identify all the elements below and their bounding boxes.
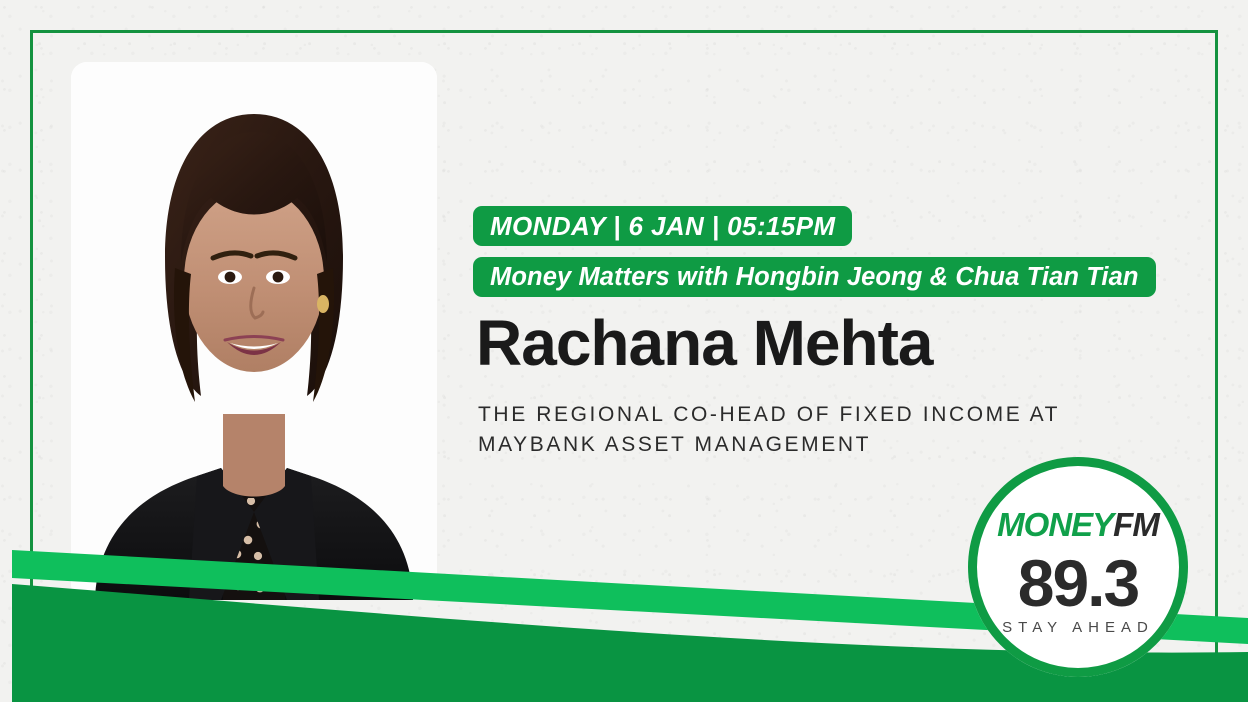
promo-card: MONDAY | 6 JAN | 05:15PM Money Matters w… [0, 0, 1248, 702]
svg-text:STAY AHEAD: STAY AHEAD [1002, 619, 1154, 636]
airtime-badge: MONDAY | 6 JAN | 05:15PM [473, 206, 852, 246]
station-logo: MONEYFM 89.3 STAY AHEAD [963, 452, 1193, 682]
airtime-text: MONDAY | 6 JAN | 05:15PM [490, 211, 835, 242]
svg-text:89.3: 89.3 [1018, 546, 1139, 620]
show-badge: Money Matters with Hongbin Jeong & Chua … [473, 257, 1156, 297]
svg-text:MONEYFM: MONEYFM [997, 506, 1161, 543]
logo-wordmark: MONEYFM [997, 506, 1161, 543]
guest-name: Rachana Mehta [476, 311, 932, 375]
show-title-text: Money Matters with Hongbin Jeong & Chua … [490, 263, 1139, 292]
guest-photo [71, 62, 437, 600]
